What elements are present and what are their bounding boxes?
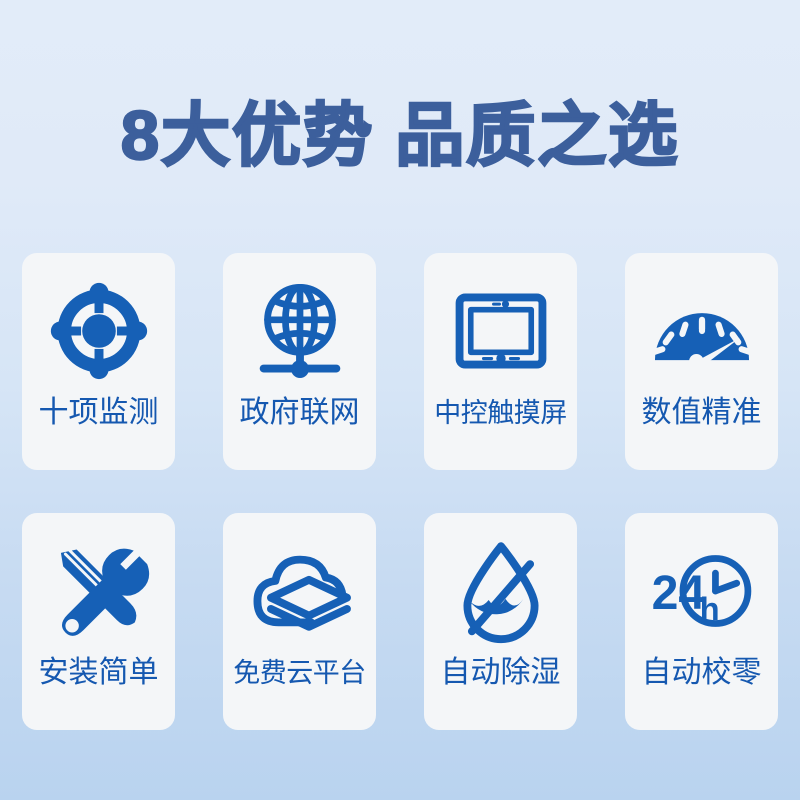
feature-card-cloud-platform[interactable]: 免费云平台 <box>223 513 376 730</box>
page-title: 8大优势 品质之选 <box>121 96 680 176</box>
feature-card-label: 中控触摸屏 <box>434 393 567 433</box>
svg-text:h: h <box>699 591 719 627</box>
feature-card-label: 数值精准 <box>642 393 762 433</box>
promo-feature-poster: 8大优势 品质之选 十项监测 <box>0 0 800 800</box>
cloud-layers-icon <box>244 535 356 647</box>
wrench-screwdriver-icon <box>43 535 155 647</box>
touchscreen-tablet-icon <box>445 275 557 387</box>
gauge-speedometer-icon <box>646 275 758 387</box>
feature-card-label: 免费云平台 <box>233 653 366 693</box>
water-drop-slash-icon <box>445 535 557 647</box>
clock-24h-icon: 24 h <box>646 535 758 647</box>
feature-card-label: 自动校零 <box>642 653 762 693</box>
feature-card-accuracy[interactable]: 数值精准 <box>625 253 778 470</box>
target-ring-icon <box>43 275 155 387</box>
feature-card-touchscreen[interactable]: 中控触摸屏 <box>424 253 577 470</box>
feature-card-government-network[interactable]: 政府联网 <box>223 253 376 470</box>
feature-card-dehumidify[interactable]: 自动除湿 <box>424 513 577 730</box>
feature-card-label: 十项监测 <box>39 393 159 433</box>
feature-card-easy-install[interactable]: 安装简单 <box>22 513 175 730</box>
heading-container: 8大优势 品质之选 <box>0 96 800 176</box>
globe-network-icon <box>244 275 356 387</box>
feature-card-auto-zero[interactable]: 24 h 自动校零 <box>625 513 778 730</box>
feature-card-label: 安装简单 <box>39 653 159 693</box>
feature-card-monitoring[interactable]: 十项监测 <box>22 253 175 470</box>
feature-card-label: 自动除湿 <box>441 653 561 693</box>
svg-text:24: 24 <box>651 566 705 620</box>
feature-grid: 十项监测 政府联网 <box>22 253 778 730</box>
feature-card-label: 政府联网 <box>240 393 360 433</box>
